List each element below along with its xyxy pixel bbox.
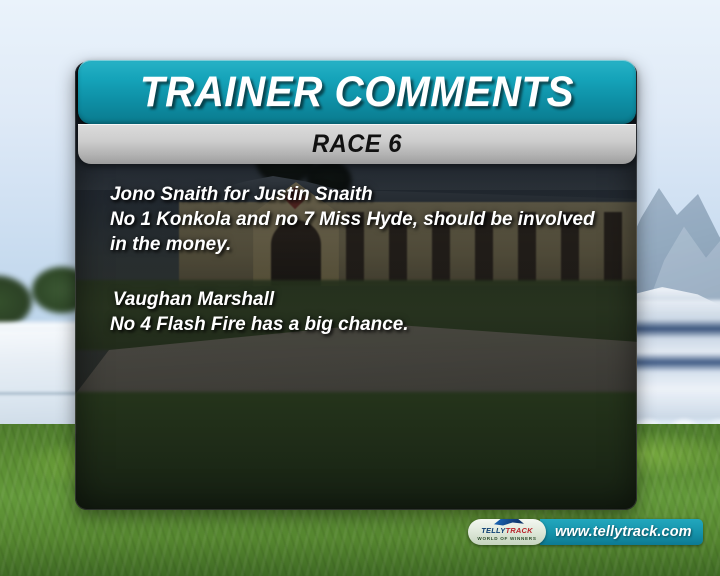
logo-word-track: TRACK [505,526,532,535]
trainer-name: Vaughan Marshall [110,287,607,312]
race-label: RACE 6 [92,124,622,164]
title-bar: TRAINER COMMENTS [78,60,636,124]
broadcast-graphic: TRAINER COMMENTS RACE 6 Jono Snaith for … [0,0,720,576]
website-url: www.tellytrack.com [555,524,692,540]
branding-bar: TELLYTRACK WORLD OF WINNERS www.tellytra… [468,518,658,546]
trainer-comment: No 4 Flash Fire has a big chance. [110,312,607,337]
tellytrack-logo: TELLYTRACK WORLD OF WINNERS [468,519,546,545]
website-url-chip[interactable]: www.tellytrack.com [540,519,703,545]
trainer-name: Jono Snaith for Justin Snaith [110,182,607,207]
trainer-comment: No 1 Konkola and no 7 Miss Hyde, should … [110,207,607,257]
trainer-comments-list: Jono Snaith for Justin Snaith No 1 Konko… [110,182,607,337]
page-title: TRAINER COMMENTS [95,60,620,124]
logo-wordmark: TELLYTRACK [472,526,542,535]
race-bar: RACE 6 [78,124,636,164]
comment-entry: Vaughan Marshall No 4 Flash Fire has a b… [110,287,607,337]
logo-tagline: WORLD OF WINNERS [468,536,546,541]
comment-entry: Jono Snaith for Justin Snaith No 1 Konko… [110,182,607,257]
logo-word-telly: TELLY [481,526,505,535]
